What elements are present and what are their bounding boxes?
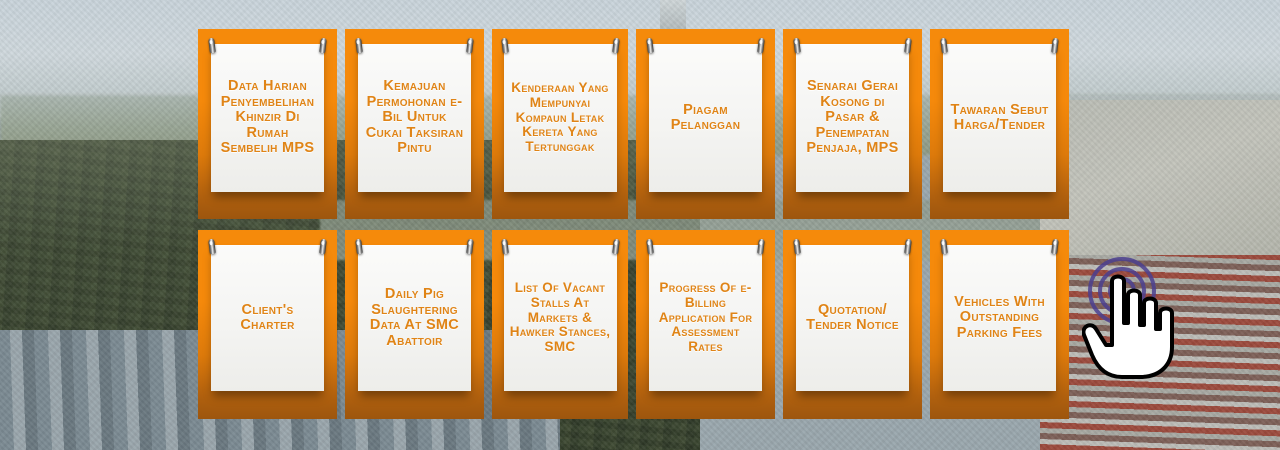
pin-icon-left — [355, 239, 363, 255]
card-sheet: Vehicles With Outstanding Parking Fees — [943, 245, 1056, 391]
pin-icon-right — [1051, 239, 1059, 255]
pin-icon-left — [793, 239, 801, 255]
card-sheet: List Of Vacant Stalls At Markets & Hawke… — [504, 245, 617, 391]
card-row-2: Client's Charter Daily Pig Slaughtering … — [198, 230, 1082, 419]
card-sheet: Kemajuan Permohonan e-Bil Untuk Cukai Ta… — [358, 44, 471, 192]
card-label: Tawaran Sebut Harga/Tender — [948, 103, 1051, 134]
card-label: List Of Vacant Stalls At Markets & Hawke… — [509, 281, 612, 355]
pin-icon-right — [612, 38, 620, 54]
card-quotation-tender-notice[interactable]: Quotation/ Tender Notice — [783, 230, 922, 419]
pin-icon-left — [940, 38, 948, 54]
card-label: Progress Of e-Billing Application For As… — [654, 281, 757, 355]
card-sheet: Piagam Pelanggan — [649, 44, 762, 192]
card-sheet: Client's Charter — [211, 245, 324, 391]
card-list-of-vacant-stalls[interactable]: List Of Vacant Stalls At Markets & Hawke… — [492, 230, 628, 419]
pin-icon-left — [793, 38, 801, 54]
pin-icon-right — [904, 38, 912, 54]
card-sheet: Quotation/ Tender Notice — [796, 245, 909, 391]
card-label: Data Harian Penyembelihan Khinzir Di Rum… — [216, 79, 319, 157]
card-row-1: Data Harian Penyembelihan Khinzir Di Rum… — [198, 29, 1082, 219]
card-label: Senarai Gerai Kosong di Pasar & Penempat… — [801, 79, 904, 157]
card-sheet: Senarai Gerai Kosong di Pasar & Penempat… — [796, 44, 909, 192]
card-data-harian-penyembelihan[interactable]: Data Harian Penyembelihan Khinzir Di Rum… — [198, 29, 337, 219]
card-label: Quotation/ Tender Notice — [801, 303, 904, 334]
pin-icon-right — [904, 239, 912, 255]
card-label: Daily Pig Slaughtering Data At SMC Abatt… — [363, 287, 466, 349]
card-daily-pig-slaughtering-data[interactable]: Daily Pig Slaughtering Data At SMC Abatt… — [345, 230, 484, 419]
card-clients-charter[interactable]: Client's Charter — [198, 230, 337, 419]
card-senarai-gerai-kosong[interactable]: Senarai Gerai Kosong di Pasar & Penempat… — [783, 29, 922, 219]
card-kemajuan-permohonan-ebil[interactable]: Kemajuan Permohonan e-Bil Untuk Cukai Ta… — [345, 29, 484, 219]
card-kenderaan-kompaun-letak-kereta[interactable]: Kenderaan Yang Mempunyai Kompaun Letak K… — [492, 29, 628, 219]
pin-icon-left — [646, 239, 654, 255]
card-label: Vehicles With Outstanding Parking Fees — [948, 295, 1051, 342]
card-vehicles-outstanding-parking-fees[interactable]: Vehicles With Outstanding Parking Fees — [930, 230, 1069, 419]
card-label: Kemajuan Permohonan e-Bil Untuk Cukai Ta… — [363, 79, 466, 157]
pin-icon-right — [466, 239, 474, 255]
card-piagam-pelanggan[interactable]: Piagam Pelanggan — [636, 29, 775, 219]
pin-icon-left — [208, 38, 216, 54]
card-sheet: Kenderaan Yang Mempunyai Kompaun Letak K… — [504, 44, 617, 192]
pin-icon-right — [319, 239, 327, 255]
pin-icon-right — [612, 239, 620, 255]
card-sheet: Data Harian Penyembelihan Khinzir Di Rum… — [211, 44, 324, 192]
pin-icon-right — [757, 38, 765, 54]
pin-icon-left — [501, 239, 509, 255]
card-sheet: Progress Of e-Billing Application For As… — [649, 245, 762, 391]
quick-links-grid: Data Harian Penyembelihan Khinzir Di Rum… — [0, 0, 1280, 450]
pin-icon-right — [319, 38, 327, 54]
card-sheet: Daily Pig Slaughtering Data At SMC Abatt… — [358, 245, 471, 391]
card-label: Piagam Pelanggan — [654, 103, 757, 134]
card-progress-of-ebilling[interactable]: Progress Of e-Billing Application For As… — [636, 230, 775, 419]
pin-icon-left — [355, 38, 363, 54]
card-tawaran-sebut-harga-tender[interactable]: Tawaran Sebut Harga/Tender — [930, 29, 1069, 219]
card-label: Kenderaan Yang Mempunyai Kompaun Letak K… — [509, 81, 612, 155]
card-sheet: Tawaran Sebut Harga/Tender — [943, 44, 1056, 192]
card-label: Client's Charter — [216, 303, 319, 334]
pin-icon-left — [208, 239, 216, 255]
pin-icon-left — [940, 239, 948, 255]
pin-icon-left — [646, 38, 654, 54]
pin-icon-right — [757, 239, 765, 255]
pin-icon-left — [501, 38, 509, 54]
pin-icon-right — [1051, 38, 1059, 54]
pin-icon-right — [466, 38, 474, 54]
